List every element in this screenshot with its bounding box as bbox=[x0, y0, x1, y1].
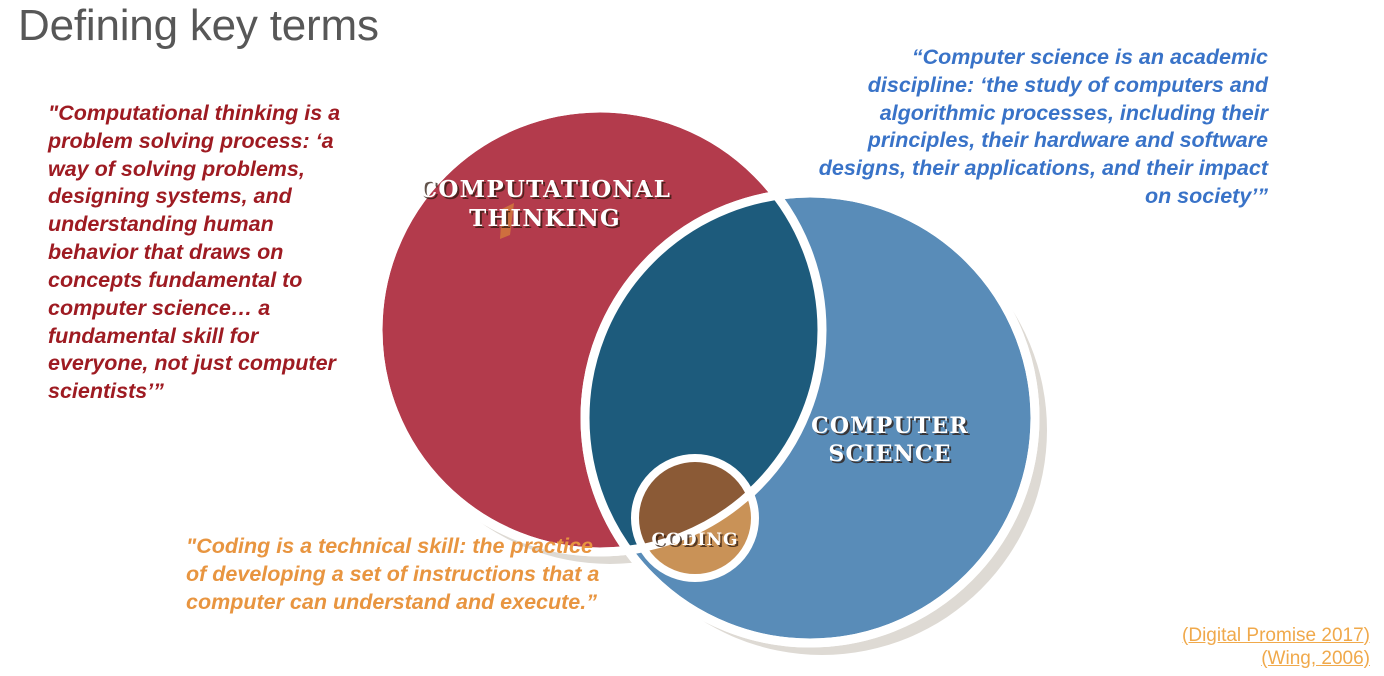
citation-link-digital-promise[interactable]: (Digital Promise 2017) bbox=[1182, 624, 1370, 647]
quote-coding-connector: is a bbox=[270, 534, 318, 558]
quote-coding: "Coding is a technical skill: the practi… bbox=[186, 533, 606, 616]
quote-cs-connector: is an bbox=[1109, 45, 1170, 69]
slide-canvas: Defining key terms bbox=[0, 0, 1384, 676]
quote-computer-science: “Computer science is an academic discipl… bbox=[800, 44, 1268, 211]
page-title: Defining key terms bbox=[18, 2, 379, 50]
quote-ct-open-quote: " bbox=[48, 101, 58, 125]
quote-cs-term: Computer science bbox=[923, 45, 1109, 69]
quote-coding-definition-label: technical skill bbox=[318, 534, 459, 558]
citation-link-wing[interactable]: (Wing, 2006) bbox=[1182, 647, 1370, 670]
quote-ct-connector: is a bbox=[298, 101, 340, 125]
quote-ct-body: ‘a way of solving problems, designing sy… bbox=[48, 129, 336, 403]
quote-ct-term: Computational thinking bbox=[58, 101, 298, 125]
quote-coding-open-quote: " bbox=[186, 534, 196, 558]
quote-computational-thinking: "Computational thinking is a problem sol… bbox=[48, 100, 348, 406]
quote-ct-definition-label: problem solving process: bbox=[48, 129, 310, 153]
quote-cs-open-quote: “ bbox=[912, 45, 923, 69]
quote-coding-term: Coding bbox=[196, 534, 270, 558]
citations: (Digital Promise 2017) (Wing, 2006) bbox=[1182, 624, 1370, 670]
